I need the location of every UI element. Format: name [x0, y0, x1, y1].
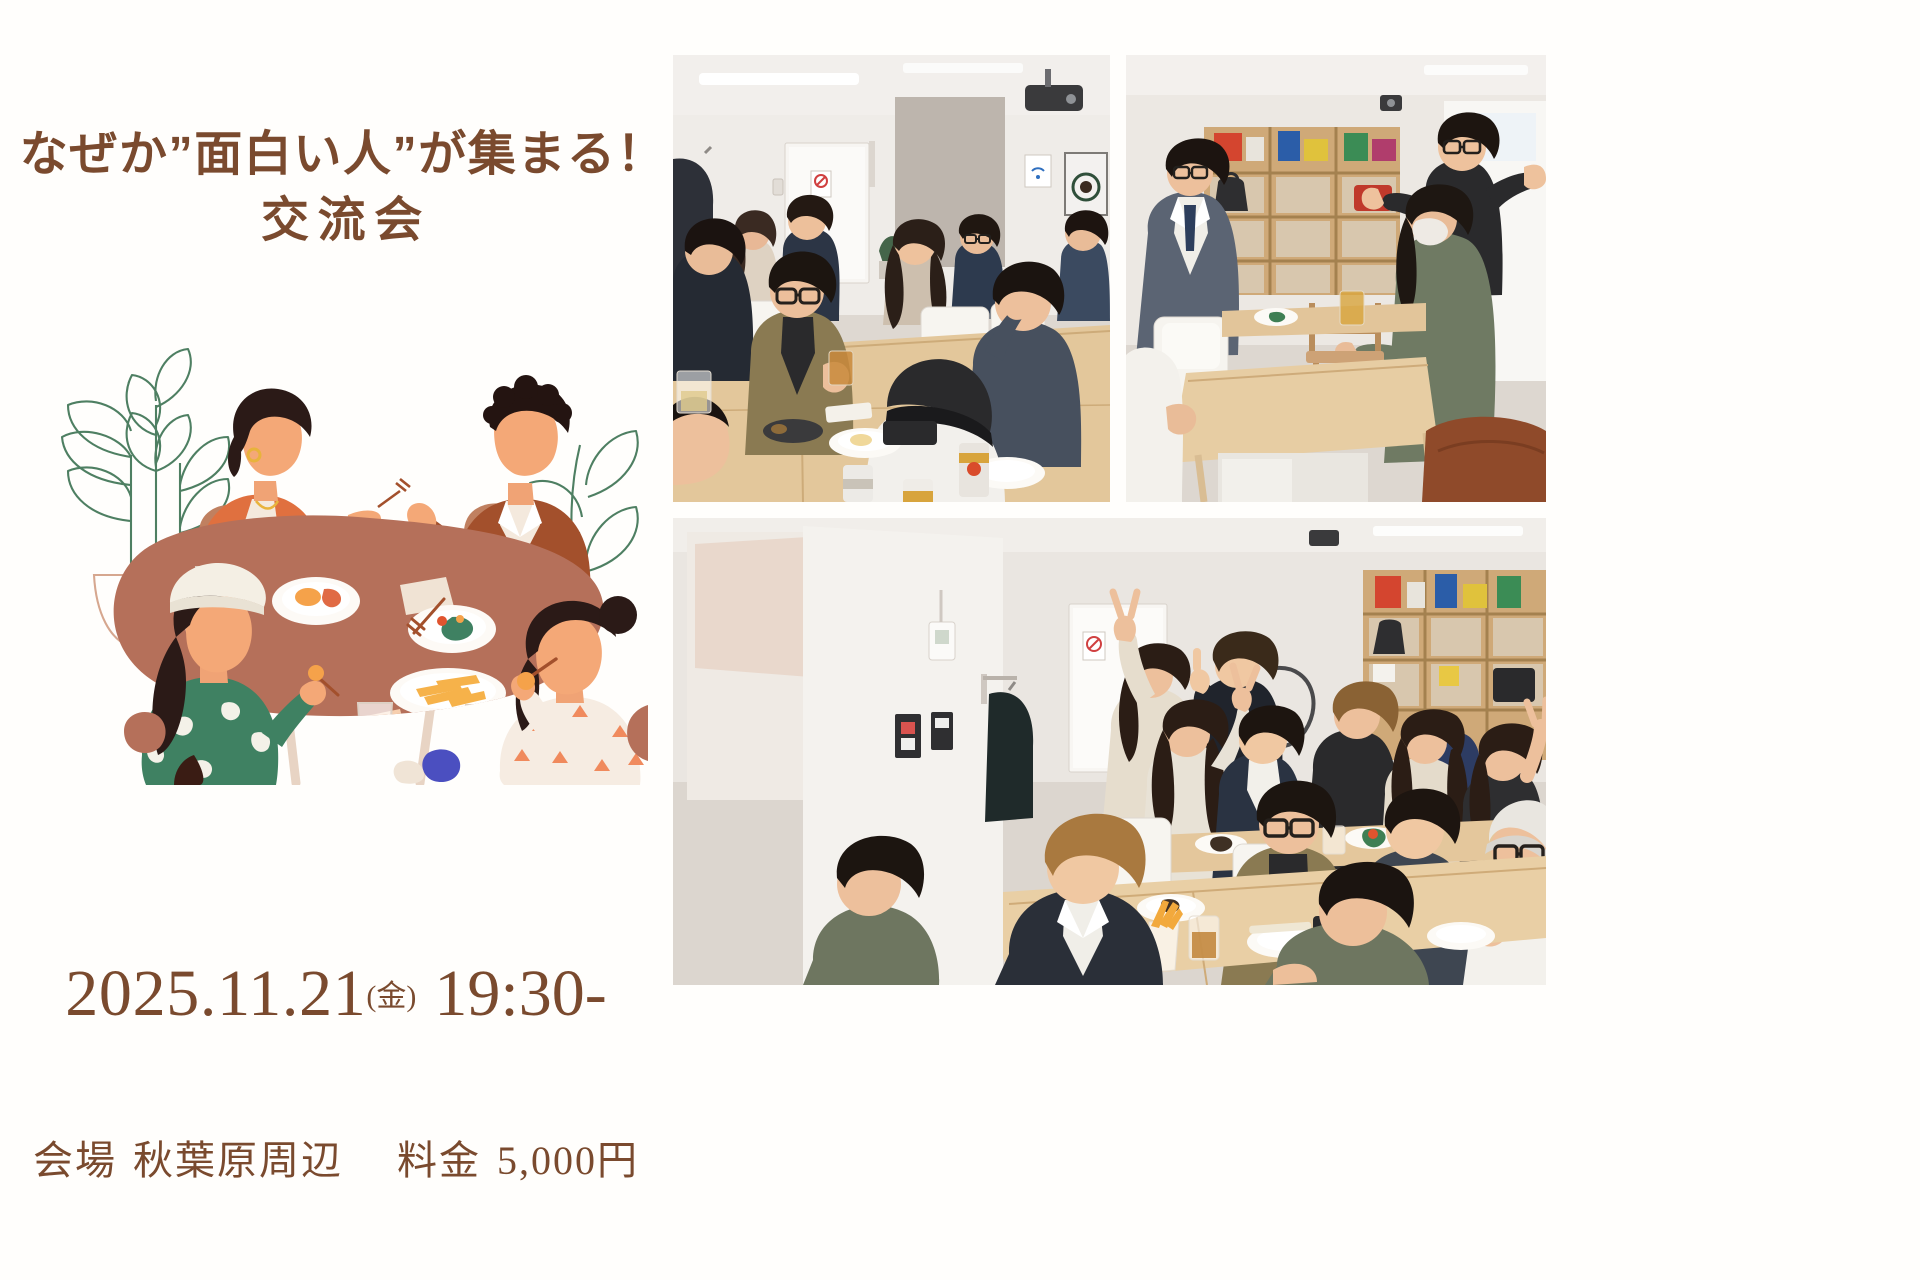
people-dining-at-table-illustration [28, 285, 648, 785]
event-flyer: なぜか”面白い人”が集まる！ 交流会 [0, 0, 1920, 1280]
venue-label: 会場 [33, 1139, 117, 1183]
headline-line-1: なぜか”面白い人”が集まる！ [0, 122, 672, 188]
photo-presentation-whiteboard [1126, 55, 1546, 502]
headline-line-2: 交流会 [0, 188, 672, 254]
venue-value: 秋葉原周辺 [133, 1139, 343, 1183]
photo-group-dining-room [673, 55, 1110, 502]
fork-icon [378, 479, 410, 507]
glass-juice-red [466, 705, 498, 767]
headline: なぜか”面白い人”が集まる！ 交流会 [0, 122, 672, 254]
price-label: 料金 [397, 1139, 481, 1183]
event-date-time: 2025.11.21(金)19:30- [0, 956, 672, 1032]
event-time: 19:30- [434, 957, 606, 1030]
event-date: 2025.11.21 [65, 957, 366, 1030]
left-content-column: なぜか”面白い人”が集まる！ 交流会 [0, 0, 672, 1280]
photo-group-photo-peace-signs [673, 518, 1546, 985]
glass-juice-orange [358, 703, 392, 765]
price-value: 5,000円 [497, 1138, 639, 1183]
event-venue-and-price: 会場秋葉原周辺料金5,000円 [0, 1128, 672, 1186]
event-day-of-week: (金) [366, 980, 416, 1013]
